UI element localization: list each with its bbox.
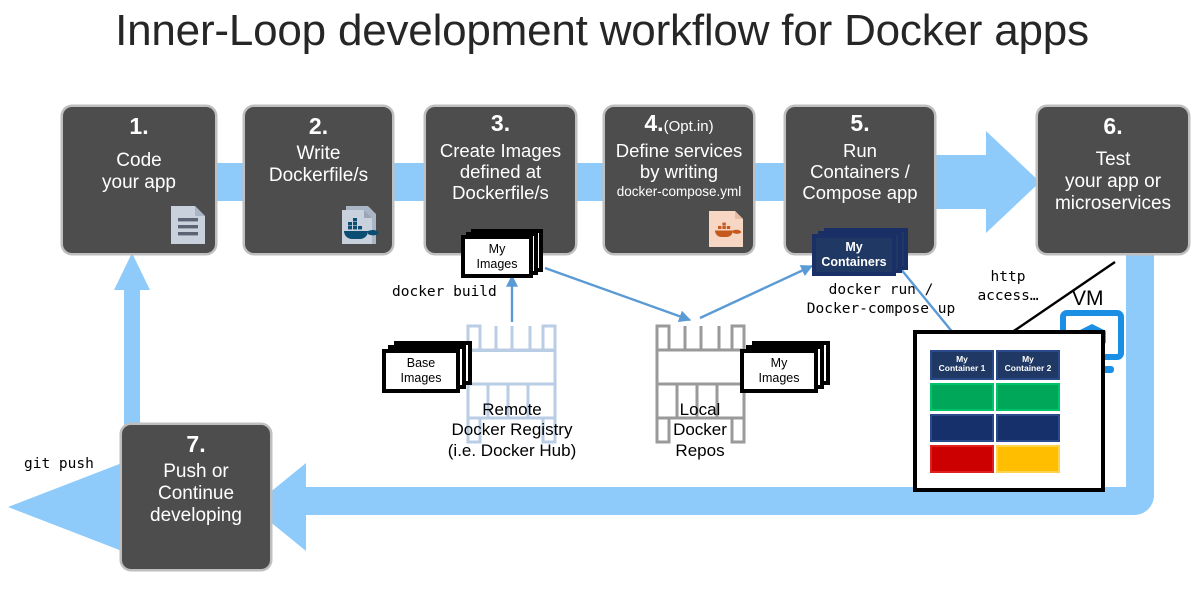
docker-build-label: docker build <box>392 283 512 302</box>
step-4-optin-label: (Opt.in) <box>664 118 714 135</box>
step-2-number: 2. <box>245 107 392 140</box>
git-push-arrow <box>8 463 122 551</box>
connector-4-5 <box>750 163 784 201</box>
connector-3-4 <box>573 163 607 201</box>
step-2-box[interactable]: 2. Write Dockerfile/s <box>245 107 392 253</box>
step-1-label: Code your app <box>63 140 215 194</box>
vm-container-2-layer-green <box>996 383 1060 411</box>
remote-registry-label: Remote Docker Registry (i.e. Docker Hub) <box>414 400 610 461</box>
step-3-label: Create Images defined at Dockerfile/s <box>426 137 575 204</box>
docker-run-label: docker run / Docker-compose up <box>786 281 976 318</box>
my-images-card-local[interactable]: My Images <box>740 341 832 393</box>
step-5-number: 5. <box>786 107 934 137</box>
vm-container-2[interactable]: My Container 2 <box>996 350 1060 478</box>
base-images-card[interactable]: Base Images <box>382 341 474 393</box>
connector-1-2 <box>213 163 247 201</box>
connector-5-6-arrow <box>934 131 1040 233</box>
step-4-label: Define services by writing <box>605 137 753 183</box>
vm-label: VM <box>1072 287 1104 311</box>
vm-container-1-label: My Container 1 <box>932 352 992 374</box>
arrow-my-images-to-local-repos <box>545 268 690 320</box>
document-icon <box>169 204 207 246</box>
step-7-box[interactable]: 7. Push or Continue developing <box>122 425 270 569</box>
step-4-number: 4.(Opt.in) <box>605 107 753 137</box>
connector-2-3 <box>390 163 424 201</box>
step-2-label: Write Dockerfile/s <box>245 140 392 187</box>
step-1-number: 1. <box>63 107 215 140</box>
step-6-number: 6. <box>1038 107 1188 140</box>
step-7-number: 7. <box>122 425 270 458</box>
vm-container-2-layer-navy <box>996 414 1060 442</box>
vm-container-2-header: My Container 2 <box>996 350 1060 380</box>
step-3-number: 3. <box>426 107 575 137</box>
step-4-number-text: 4. <box>644 110 663 136</box>
step-6-box[interactable]: 6. Test your app or microservices <box>1038 107 1188 253</box>
step-1-box[interactable]: 1. Code your app <box>63 107 215 253</box>
my-images-card-top-label: My Images <box>461 242 533 272</box>
step-4-sublabel: docker-compose.yml <box>605 182 753 200</box>
compose-yml-icon <box>707 209 745 249</box>
http-access-label: http access… <box>958 268 1058 305</box>
vm-container-1-layer-navy <box>930 414 994 442</box>
diagram-canvas: Inner-Loop development workflow for Dock… <box>0 0 1204 591</box>
vm-container-1[interactable]: My Container 1 <box>930 350 994 478</box>
vm-container-2-label: My Container 2 <box>998 352 1058 374</box>
arrow-step7-to-step1 <box>114 253 150 428</box>
step-7-label: Push or Continue developing <box>122 458 270 527</box>
vm-container-1-layer-red <box>930 445 994 473</box>
vm-container-1-header: My Container 1 <box>930 350 994 380</box>
step-5-label: Run Containers / Compose app <box>786 137 934 204</box>
local-repos-label: Local Docker Repos <box>640 400 760 461</box>
my-images-card-top[interactable]: My Images <box>461 229 545 278</box>
git-push-label: git push <box>24 455 134 474</box>
base-images-card-label: Base Images <box>382 356 460 386</box>
loop-vertical <box>1126 253 1154 475</box>
my-containers-card-label: My Containers <box>812 240 896 270</box>
step-4-box[interactable]: 4.(Opt.in) Define services by writing do… <box>605 107 753 253</box>
vm-container-1-layer-green <box>930 383 994 411</box>
dockerfile-icon <box>340 202 386 248</box>
step-6-label: Test your app or microservices <box>1038 140 1188 215</box>
my-containers-card[interactable]: My Containers <box>812 228 908 278</box>
vm-container-2-layer-amber <box>996 445 1060 473</box>
my-images-card-local-label: My Images <box>740 356 818 386</box>
